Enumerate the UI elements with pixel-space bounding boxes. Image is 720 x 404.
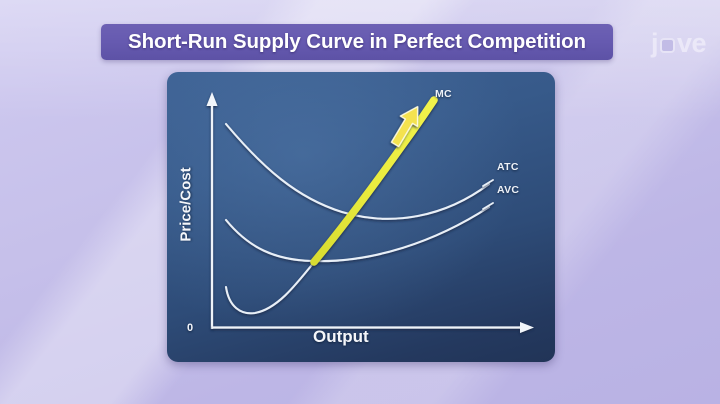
curve-label-mc: MC bbox=[435, 88, 452, 100]
cost-curves-chart bbox=[167, 72, 555, 362]
title-banner: Short-Run Supply Curve in Perfect Compet… bbox=[101, 24, 613, 60]
page-title: Short-Run Supply Curve in Perfect Compet… bbox=[128, 30, 586, 54]
jove-logo: j ve bbox=[651, 28, 706, 58]
chart-card: Price/Cost Output 0 MC ATC AVC bbox=[167, 72, 555, 362]
curve-label-atc: ATC bbox=[497, 161, 519, 173]
y-axis-label: Price/Cost bbox=[178, 155, 195, 255]
curve-label-avc: AVC bbox=[497, 184, 519, 196]
logo-letter-j: j bbox=[651, 30, 658, 57]
x-axis bbox=[212, 322, 534, 333]
x-axis-label: Output bbox=[313, 327, 369, 347]
origin-label: 0 bbox=[187, 322, 193, 334]
logo-letters-ve: ve bbox=[677, 30, 706, 57]
rounded-square-o-icon bbox=[660, 38, 675, 53]
y-axis bbox=[207, 92, 218, 329]
